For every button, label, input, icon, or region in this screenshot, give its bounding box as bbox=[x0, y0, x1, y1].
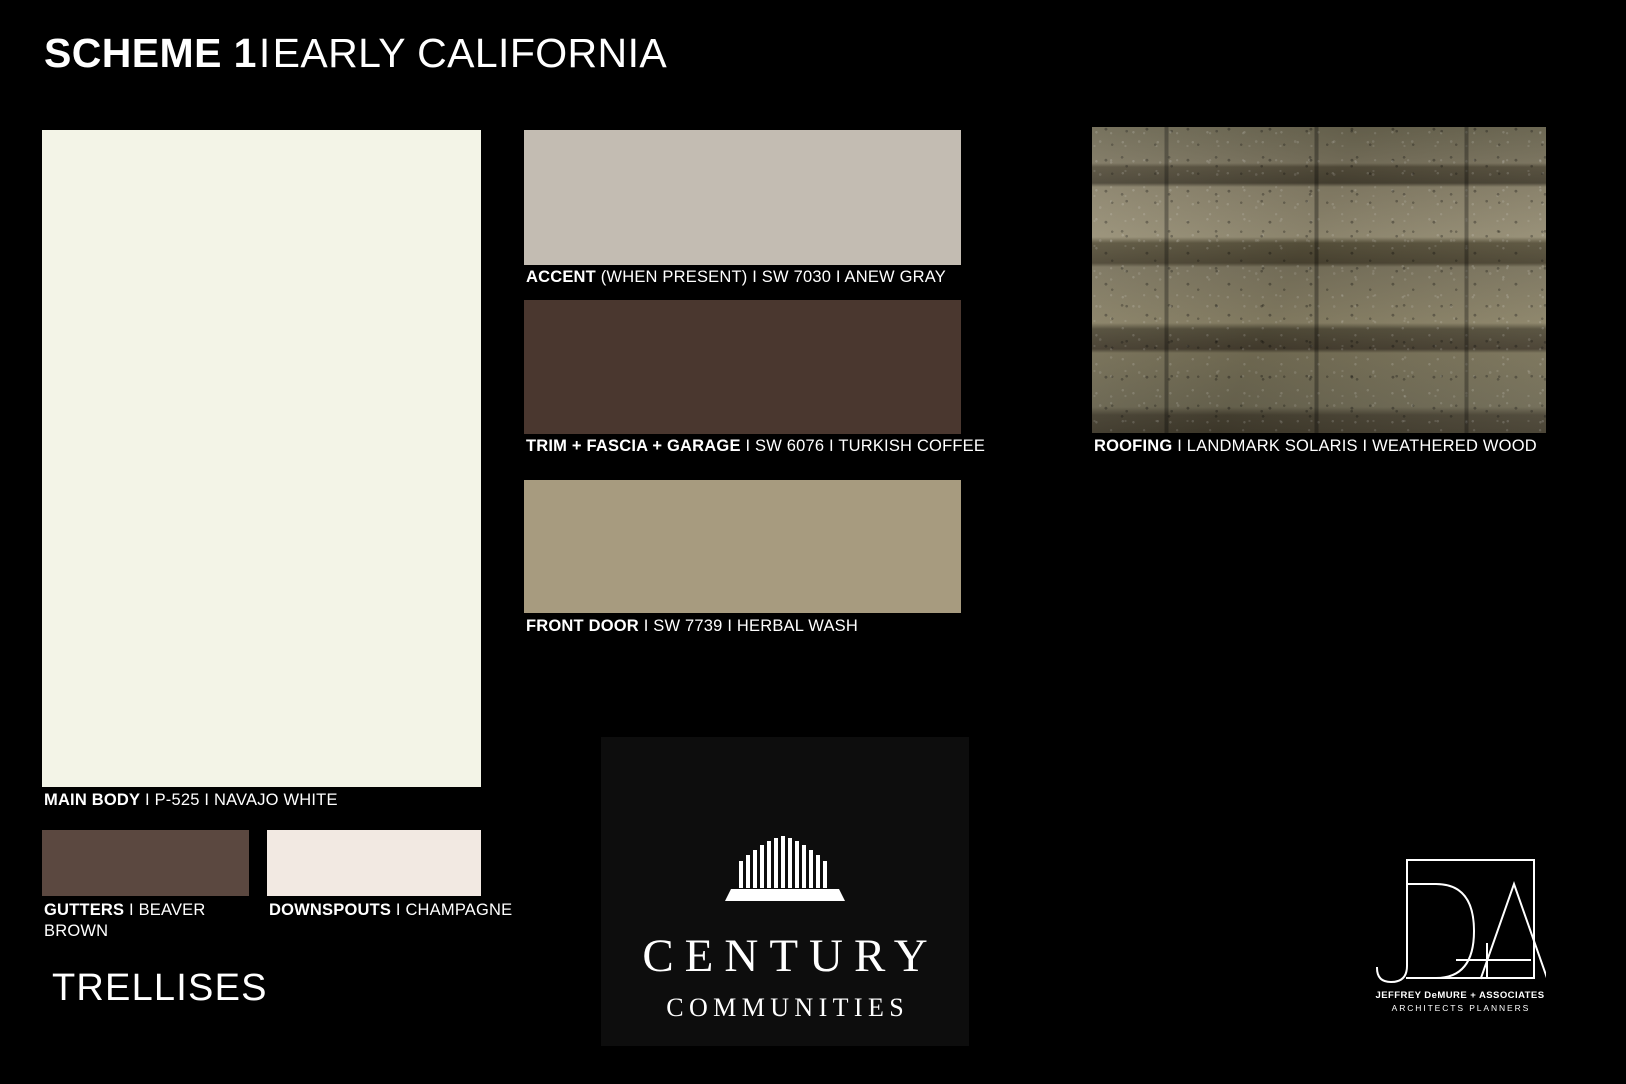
caption-accent-detail: (WHEN PRESENT) I SW 7030 I ANEW GRAY bbox=[596, 268, 946, 286]
caption-main-body: MAIN BODY I P-525 I NAVAJO WHITE bbox=[44, 790, 338, 811]
caption-front-door: FRONT DOOR I SW 7739 I HERBAL WASH bbox=[526, 616, 858, 637]
swatch-accent bbox=[524, 130, 961, 265]
building-columns-icon bbox=[725, 831, 845, 903]
jda-firm-name: JEFFREY DeMURE + ASSOCIATES bbox=[1374, 990, 1546, 1001]
swatch-roofing-shingle-texture bbox=[1092, 127, 1546, 433]
century-subtitle: COMMUNITIES bbox=[601, 995, 969, 1021]
swatch-front-door bbox=[524, 480, 961, 613]
caption-front-door-label: FRONT DOOR bbox=[526, 617, 639, 635]
title-separator: I bbox=[257, 30, 273, 76]
caption-trim-detail: I SW 6076 I TURKISH COFFEE bbox=[741, 437, 985, 455]
caption-trim-label: TRIM + FASCIA + GARAGE bbox=[526, 437, 741, 455]
color-scheme-board: SCHEME 1IEARLY CALIFORNIA MAIN BODY I P-… bbox=[0, 0, 1626, 1084]
caption-front-door-detail: I SW 7739 I HERBAL WASH bbox=[639, 617, 858, 635]
swatch-main-body bbox=[42, 130, 481, 787]
page-title: SCHEME 1IEARLY CALIFORNIA bbox=[44, 33, 667, 74]
caption-main-body-detail: I P-525 I NAVAJO WHITE bbox=[140, 791, 337, 809]
century-communities-logo: CENTURY COMMUNITIES bbox=[601, 737, 969, 1046]
caption-roofing-label: ROOFING bbox=[1094, 437, 1172, 455]
swatch-trim-fascia-garage bbox=[524, 300, 961, 434]
century-wordmark: CENTURY bbox=[601, 933, 969, 980]
caption-main-body-label: MAIN BODY bbox=[44, 791, 140, 809]
jda-logo: JEFFREY DeMURE + ASSOCIATES ARCHITECTS P… bbox=[1374, 848, 1546, 1024]
caption-gutters-label: GUTTERS bbox=[44, 901, 124, 919]
title-scheme-number: SCHEME 1 bbox=[44, 30, 257, 76]
swatch-downspouts bbox=[267, 830, 481, 896]
caption-gutters: GUTTERS I BEAVER BROWN bbox=[44, 900, 259, 943]
caption-accent-label: ACCENT bbox=[526, 268, 596, 286]
swatch-gutters bbox=[42, 830, 249, 896]
jda-firm-discipline: ARCHITECTS PLANNERS bbox=[1374, 1003, 1546, 1013]
caption-roofing: ROOFING I LANDMARK SOLARIS I WEATHERED W… bbox=[1094, 436, 1537, 457]
caption-roofing-detail: I LANDMARK SOLARIS I WEATHERED WOOD bbox=[1172, 437, 1536, 455]
jda-monogram-icon bbox=[1374, 848, 1546, 990]
caption-downspouts-detail: I CHAMPAGNE bbox=[391, 901, 512, 919]
caption-downspouts-label: DOWNSPOUTS bbox=[269, 901, 391, 919]
trellises-label: TRELLISES bbox=[52, 967, 268, 1010]
title-scheme-name: EARLY CALIFORNIA bbox=[273, 30, 668, 76]
caption-trim-fascia-garage: TRIM + FASCIA + GARAGE I SW 6076 I TURKI… bbox=[526, 436, 985, 457]
caption-downspouts: DOWNSPOUTS I CHAMPAGNE bbox=[269, 900, 512, 921]
caption-accent: ACCENT (WHEN PRESENT) I SW 7030 I ANEW G… bbox=[526, 267, 946, 288]
